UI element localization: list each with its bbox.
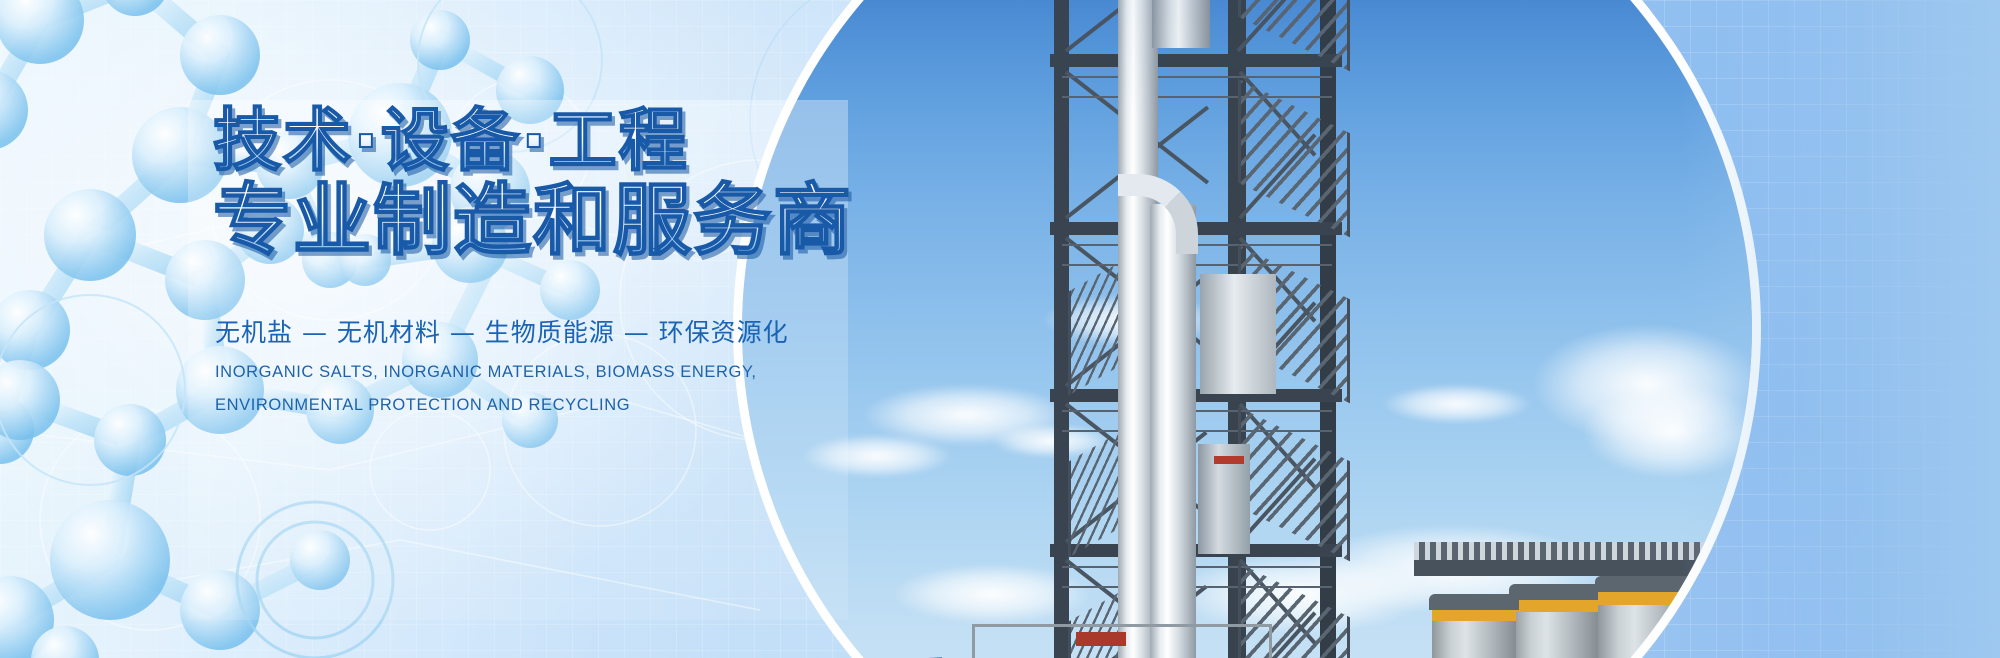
conveyor-rail — [1414, 542, 1752, 560]
cloud — [1382, 384, 1532, 424]
pipe-elbow — [1118, 174, 1198, 254]
distillation-column-secondary — [1150, 204, 1196, 658]
red-valve — [1214, 456, 1244, 464]
distillation-tower-structure — [1032, 0, 1362, 658]
cloud — [802, 434, 952, 478]
conveyor-bridge — [1414, 560, 1752, 576]
handrail — [972, 624, 1272, 658]
subtitle-english: INORGANIC SALTS, INORGANIC MATERIALS, BI… — [215, 356, 775, 422]
hero-banner: 技术·设备·工程 专业制造和服务商 无机盐 — 无机材料 — 生物质能源 — 环… — [0, 0, 2000, 658]
headline-line-2: 专业制造和服务商 — [213, 182, 853, 260]
headline-line-1: 技术·设备·工程 — [213, 108, 853, 176]
subtitle-chinese: 无机盐 — 无机材料 — 生物质能源 — 环保资源化 — [215, 313, 789, 349]
cloud — [1582, 384, 1752, 479]
industrial-plant-photo — [742, 0, 1752, 658]
headline-block: 技术·设备·工程 专业制造和服务商 — [213, 108, 853, 260]
